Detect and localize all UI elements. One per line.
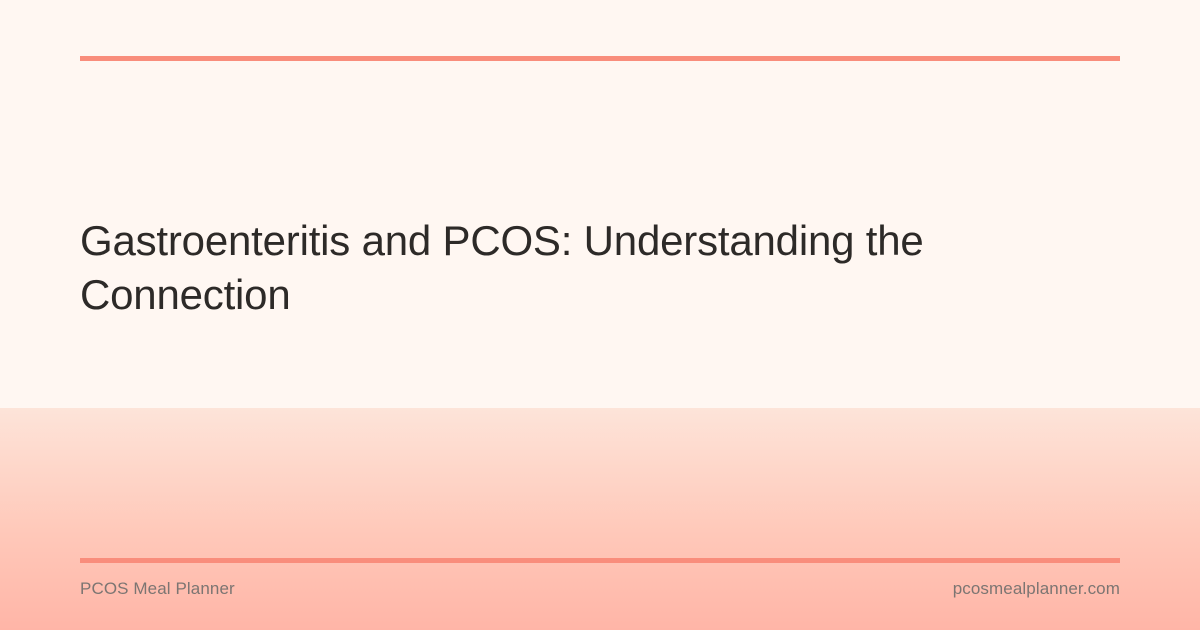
site-url[interactable]: pcosmealplanner.com — [953, 579, 1120, 599]
top-accent-rule — [80, 56, 1120, 61]
footer-accent-rule — [80, 558, 1120, 563]
brand-name: PCOS Meal Planner — [80, 579, 235, 599]
article-share-card: Gastroenteritis and PCOS: Understanding … — [0, 0, 1200, 630]
title-block: Gastroenteritis and PCOS: Understanding … — [80, 214, 1080, 322]
page-title: Gastroenteritis and PCOS: Understanding … — [80, 214, 1080, 322]
upper-panel — [0, 0, 1200, 408]
footer: PCOS Meal Planner pcosmealplanner.com — [80, 576, 1120, 602]
